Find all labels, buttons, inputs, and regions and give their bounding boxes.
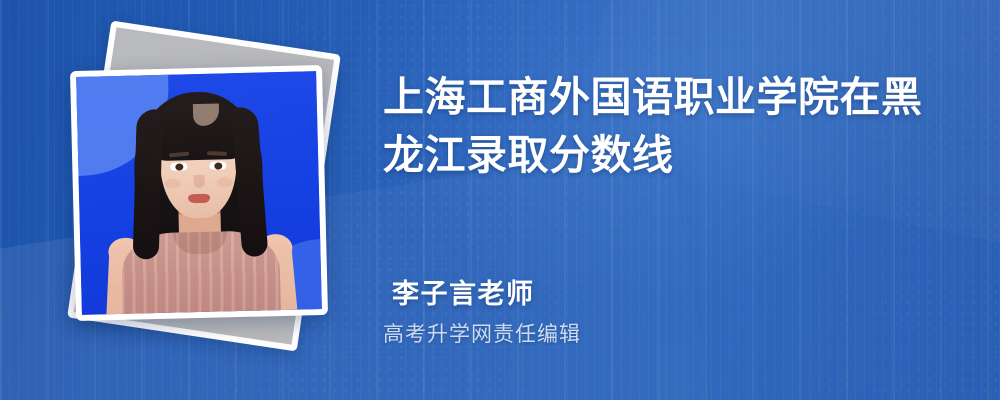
portrait-eye-right [209, 161, 226, 169]
banner-content: 上海工商外国语职业学院在黑龙江录取分数线 李子言老师 高考升学网责任编辑 [383, 0, 983, 400]
portrait-hair-side-left [133, 109, 163, 260]
portrait-eyebrow-right [207, 151, 227, 156]
author-photo-stack [46, 28, 346, 358]
portrait-pupil-right [214, 162, 222, 169]
portrait-lips [188, 194, 210, 204]
author-name: 李子言老师 [392, 272, 535, 311]
article-header-banner: 上海工商外国语职业学院在黑龙江录取分数线 李子言老师 高考升学网责任编辑 [0, 0, 1000, 400]
article-title: 上海工商外国语职业学院在黑龙江录取分数线 [383, 68, 958, 184]
portrait-eye-left [170, 162, 187, 170]
author-role-caption: 高考升学网责任编辑 [383, 318, 581, 348]
portrait-pupil-left [175, 163, 183, 170]
photo-card-front [70, 65, 328, 321]
author-portrait [76, 71, 322, 315]
portrait-nose [194, 175, 205, 188]
